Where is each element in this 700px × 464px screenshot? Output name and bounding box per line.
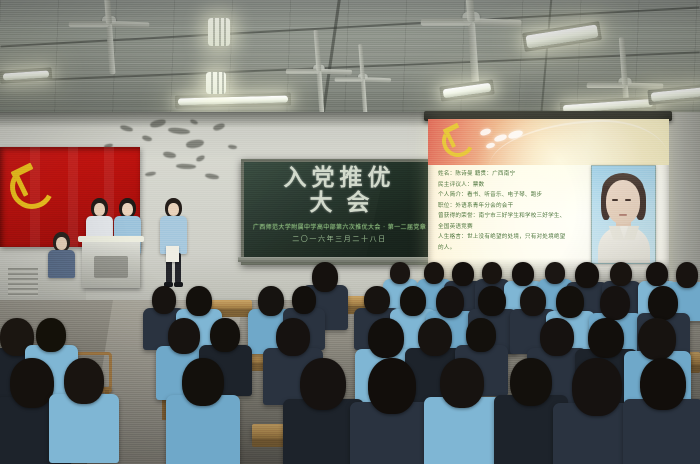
audience-head: [512, 262, 534, 286]
blackboard-subtitle: 广西师范大学附属中学高中部第六次推优大会 · 第一二届党章: [244, 223, 435, 232]
audience-head: [610, 262, 632, 286]
audience-head: [182, 358, 224, 406]
pendant-lamp-cluster: [206, 72, 226, 94]
audience-head: [575, 262, 599, 288]
audience-head: [424, 262, 444, 284]
audience-head: [646, 262, 668, 286]
audience-head: [400, 286, 426, 316]
party-emblem-icon: [441, 124, 471, 152]
blackboard: 入党推优 大会 广西师范大学附属中学高中部第六次推优大会 · 第一二届党章 二〇…: [241, 159, 438, 265]
slide-text-line: 个人简介：看书、听音乐、电子琴、跑步: [438, 190, 582, 201]
audience-head: [640, 358, 686, 410]
audience-head: [364, 286, 390, 314]
audience-head: [648, 286, 678, 320]
hammer-and-sickle-icon: [8, 163, 52, 203]
photo-eye: [625, 199, 631, 201]
held-paper: [166, 246, 179, 262]
ceiling: [0, 0, 700, 118]
peeling-paint-stain: [228, 144, 238, 150]
audience-head: [638, 318, 676, 360]
audience-head: [300, 358, 346, 410]
ceiling-fan: [624, 70, 625, 71]
slide-text-line: 全国英语竞赛: [438, 222, 582, 233]
audience-head: [10, 358, 54, 408]
peeling-paint-stain: [162, 151, 176, 160]
audience-head: [312, 262, 338, 292]
podium: [82, 240, 140, 288]
chalk-tray: [238, 257, 435, 262]
slide-text-line: 的人。: [438, 243, 582, 254]
audience-head: [600, 286, 630, 320]
classroom-photo: 入党推优 大会 广西师范大学附属中学高中部第六次推优大会 · 第一二届党章 二〇…: [0, 0, 700, 464]
audience-head: [572, 358, 622, 416]
audience-head: [545, 262, 565, 284]
pendant-lamp-cluster: [208, 18, 230, 46]
blackboard-title-line2: 大会: [244, 191, 435, 216]
podium-shelf: [94, 256, 128, 278]
audience-head: [478, 286, 506, 316]
audience-head: [418, 318, 452, 356]
podium-top: [78, 236, 144, 242]
peeling-paint-stain: [141, 134, 152, 142]
audience-head: [482, 262, 502, 284]
audience-head: [368, 358, 416, 414]
ceiling-fan: [318, 58, 319, 59]
audience-head: [292, 286, 316, 314]
photo-face: [606, 180, 640, 224]
slide-text-line: 人生格言：世上没有绝望的处境，只有对处境绝望: [438, 232, 582, 243]
peeling-paint-stain: [176, 163, 196, 169]
ceiling-fan: [108, 8, 109, 9]
audience-head: [676, 262, 698, 288]
slide-text-block: 姓名：陈诗曼 籍贯：广西南宁民主评议人：票数个人简介：看书、听音乐、电子琴、跑步…: [438, 169, 582, 253]
standing-student-3: [158, 198, 188, 293]
audience-head: [436, 286, 464, 318]
peeling-paint-stain: [186, 139, 205, 149]
audience-head: [258, 286, 284, 316]
audience-head: [466, 318, 496, 352]
peeling-paint-stain: [205, 173, 220, 181]
audience-head: [510, 358, 552, 406]
audience-head: [556, 286, 584, 318]
audience-head: [588, 318, 624, 358]
audience-head: [440, 358, 484, 408]
blackboard-title-line1: 入党推优: [284, 165, 396, 191]
candidate-id-photo: [591, 165, 656, 264]
ceiling-fan: [362, 68, 363, 69]
audience-head: [168, 318, 200, 354]
audience-head: [64, 358, 104, 404]
blackboard-date: 二〇一六年三月二十八日: [244, 234, 435, 244]
peeling-paint-stain: [195, 155, 205, 163]
audience-torso: [49, 394, 119, 463]
slide-text-line: 职位：外语系青年分会的会干: [438, 201, 582, 212]
audience-head: [520, 286, 546, 316]
cabinet-vents: [8, 268, 38, 296]
photo-mouth: [619, 214, 627, 216]
ceiling-fan: [470, 2, 471, 3]
audience-head: [452, 262, 474, 286]
audience-head: [36, 318, 66, 352]
photo-eye: [612, 199, 618, 201]
slide-text-line: 姓名：陈诗曼 籍贯：广西南宁: [438, 169, 582, 180]
slide-text-line: 民主评议人：票数: [438, 180, 582, 191]
audience-head: [276, 318, 310, 356]
peeling-paint-stain: [145, 171, 156, 176]
blackboard-title: 入党推优 大会: [244, 166, 435, 216]
audience-head: [390, 262, 410, 284]
audience-head: [368, 318, 404, 358]
slide-text-line: 曾获得的荣誉：南宁市三好学生和学校三好学生、: [438, 211, 582, 222]
audience-head: [152, 286, 176, 314]
audience-head: [540, 318, 574, 356]
audience-head: [186, 286, 212, 316]
audience-head: [210, 318, 240, 352]
